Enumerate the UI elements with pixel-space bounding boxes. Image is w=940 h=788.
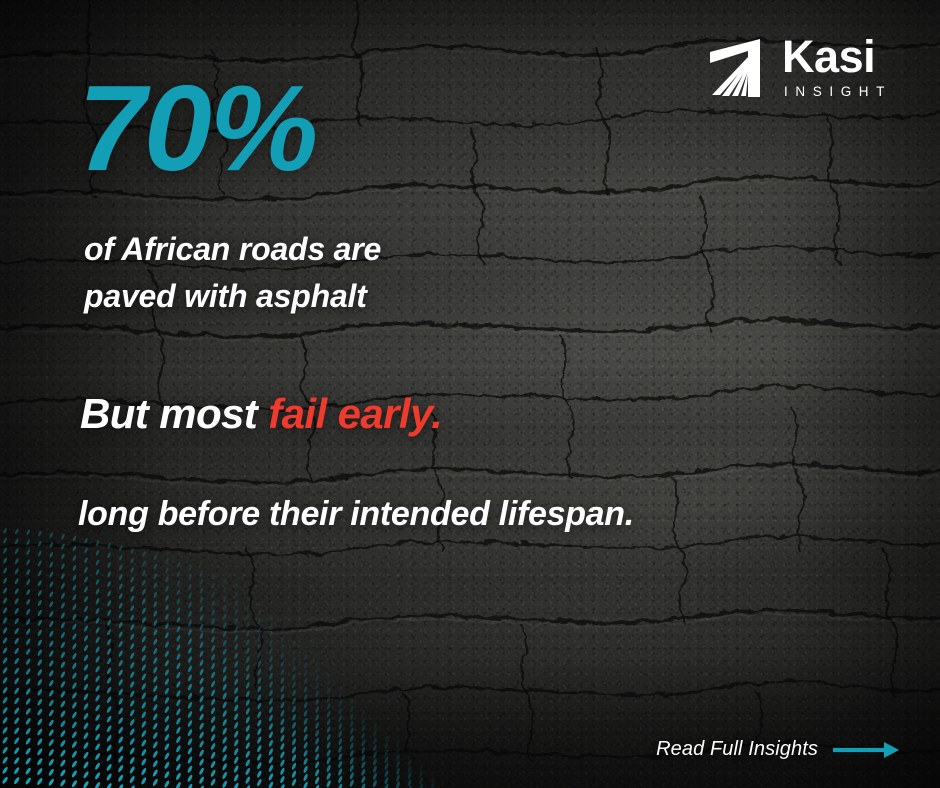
poster-canvas: Kasi INSIGHT 70% of African roads are pa…	[0, 0, 940, 788]
punchline-accent: fail early.	[268, 390, 442, 437]
stat-description-line-2: paved with asphalt	[84, 278, 367, 314]
stat-description: of African roads are paved with asphalt	[84, 226, 554, 319]
arrow-right-icon	[832, 739, 900, 761]
stat-description-line-1: of African roads are	[84, 231, 381, 267]
read-full-insights-cta[interactable]: Read Full Insights	[656, 738, 900, 761]
punchline-lead: But most	[80, 390, 268, 437]
punchline-tail: long before their intended lifespan.	[78, 495, 818, 534]
punchline: But most fail early.	[80, 391, 818, 437]
copy-block: 70% of African roads are paved with asph…	[78, 72, 818, 534]
stat-percentage: 70%	[78, 72, 818, 184]
cta-label: Read Full Insights	[656, 738, 818, 761]
